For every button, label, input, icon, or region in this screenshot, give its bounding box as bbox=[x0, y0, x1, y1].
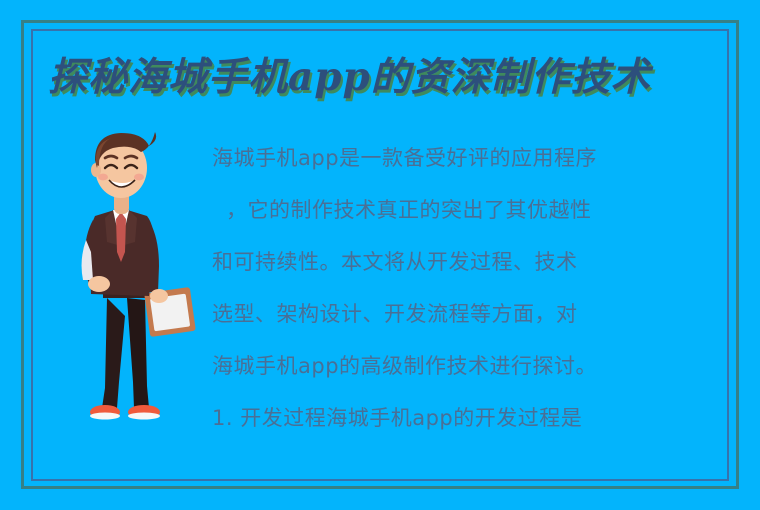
page-title: 探秘海城手机app的资深制作技术 bbox=[48, 58, 668, 97]
body-line: 海城手机app是一款备受好评的应用程序 bbox=[212, 132, 724, 184]
body-line: 和可持续性。本文将从开发过程、技术 bbox=[212, 236, 724, 288]
blush-left bbox=[98, 174, 108, 181]
body-line: 海城手机app的高级制作技术进行探讨。 bbox=[212, 340, 724, 392]
trouser-left bbox=[102, 298, 125, 408]
body-line: ，它的制作技术真正的突出了其优越性 bbox=[212, 184, 724, 236]
blush-right bbox=[134, 174, 144, 181]
body-line: 1. 开发过程海城手机app的开发过程是 bbox=[212, 392, 724, 444]
poster-canvas: 探秘海城手机app的资深制作技术 海城手机app是一款备受好评的应用程序 ，它的… bbox=[0, 0, 760, 510]
businessman-illustration bbox=[55, 120, 205, 430]
body-line: 选型、架构设计、开发流程等方面，对 bbox=[212, 288, 724, 340]
shoe-right-sole bbox=[128, 413, 160, 420]
body-paragraph: 海城手机app是一款备受好评的应用程序 ，它的制作技术真正的突出了其优越性 和可… bbox=[212, 132, 724, 444]
trouser-right bbox=[127, 298, 149, 408]
shoe-left-sole bbox=[90, 413, 120, 420]
hand-left bbox=[88, 276, 110, 292]
hand-right bbox=[150, 289, 168, 303]
